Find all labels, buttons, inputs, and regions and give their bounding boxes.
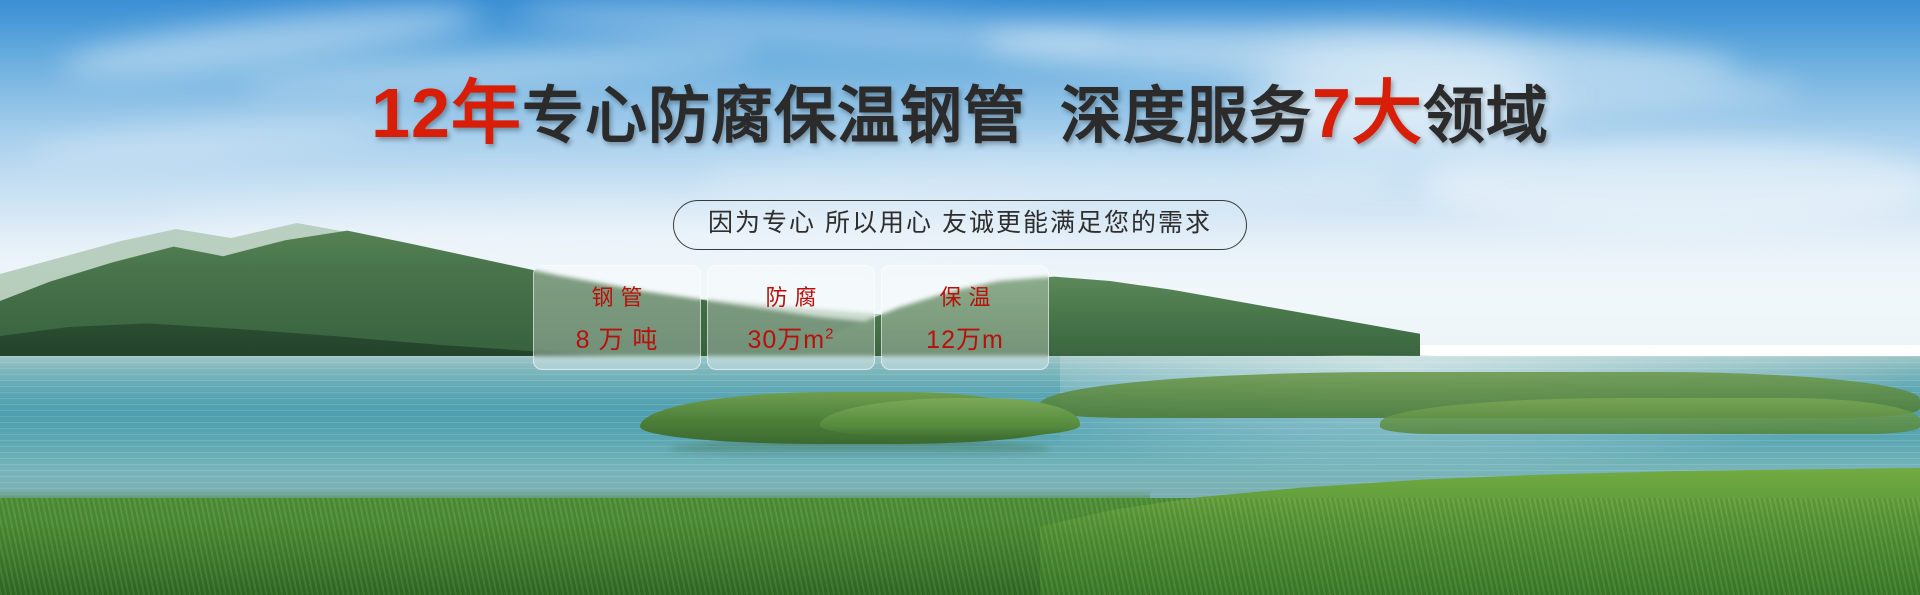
stat-card-label: 保温: [932, 280, 997, 312]
stat-card-value: 12万m: [926, 320, 1004, 356]
hero-banner: 12年专心防腐保温钢管深度服务7大领域 因为专心 所以用心 友诚更能满足您的需求…: [0, 0, 1920, 595]
headline-main-text: 专心防腐保温钢管: [522, 86, 1026, 148]
subtitle-pill: 因为专心 所以用心 友诚更能满足您的需求: [673, 200, 1247, 250]
stat-card-label: 防腐: [758, 280, 823, 312]
stat-card-list: 钢管 8 万 吨 防腐 30万m2 保温 12万m: [533, 265, 1049, 370]
stat-value-text: 30万m: [748, 326, 826, 354]
stat-value-text: 8 万 吨: [576, 326, 659, 354]
headline-years-highlight: 12年: [371, 78, 522, 148]
subtitle-container: 因为专心 所以用心 友诚更能满足您的需求: [0, 200, 1920, 250]
stat-value-superscript: 2: [825, 325, 834, 342]
banner-content: 12年专心防腐保温钢管深度服务7大领域 因为专心 所以用心 友诚更能满足您的需求…: [0, 0, 1920, 595]
headline-fields-highlight: 7大: [1312, 78, 1423, 148]
stat-card-insulation[interactable]: 保温 12万m: [881, 265, 1049, 370]
stat-card-value: 30万m2: [748, 320, 835, 356]
stat-card-steel-pipe[interactable]: 钢管 8 万 吨: [533, 265, 701, 370]
stat-card-label: 钢管: [584, 280, 649, 312]
stat-card-value: 8 万 吨: [576, 320, 659, 356]
headline: 12年专心防腐保温钢管深度服务7大领域: [0, 78, 1920, 148]
headline-service-text: 深度服务: [1060, 86, 1312, 148]
stat-value-text: 12万m: [926, 326, 1004, 354]
stat-card-anticorrosion[interactable]: 防腐 30万m2: [707, 265, 875, 370]
headline-fields-text: 领域: [1423, 86, 1549, 148]
